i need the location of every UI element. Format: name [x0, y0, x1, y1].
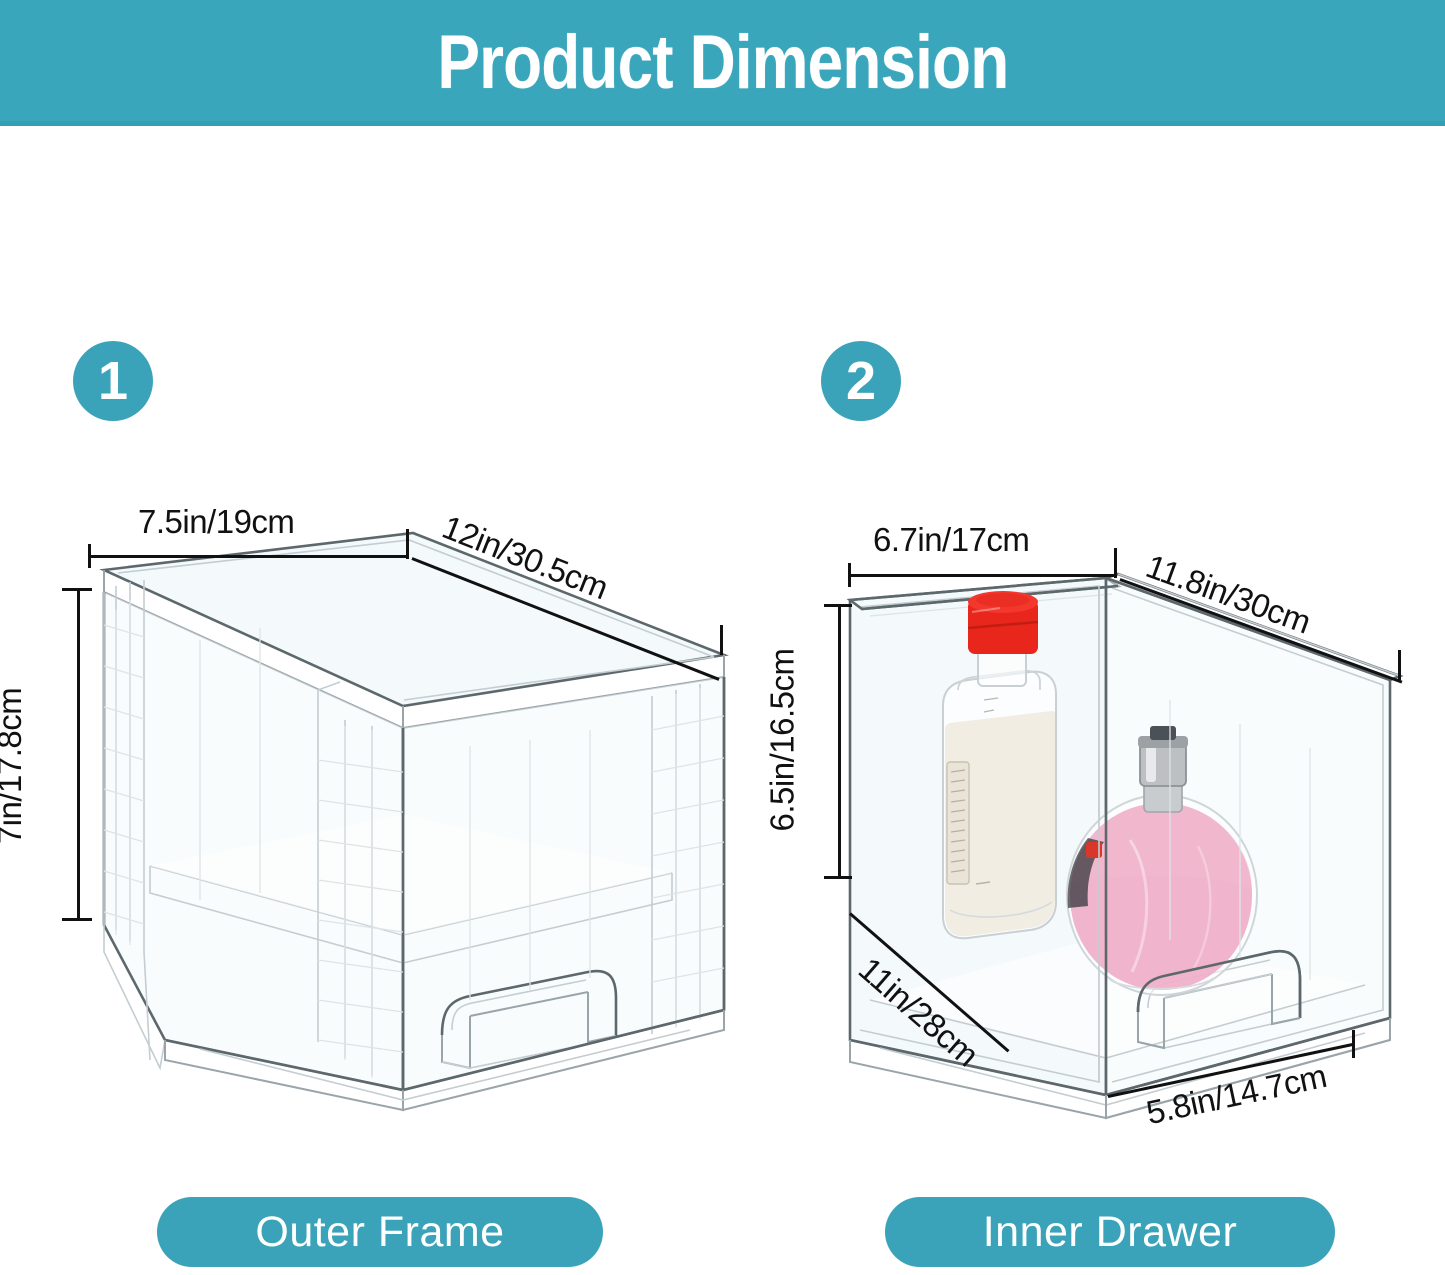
caption-inner-drawer-label: Inner Drawer [983, 1208, 1238, 1257]
dimtick-outer-height-top [62, 588, 92, 591]
dimension-inner-height: 6.5in/16.5cm [763, 649, 801, 832]
dimtick-inner-height-bottom [824, 876, 852, 879]
dimtick-outer-height-bottom [62, 918, 92, 921]
dimtick-inner-front-right [1352, 1030, 1355, 1058]
dimtick-inner-depth-far [1398, 650, 1401, 680]
product-dimension-infographic: Product Dimension 1 2 [0, 0, 1445, 1275]
dimline-inner-height [838, 604, 841, 876]
caption-outer-frame[interactable]: Outer Frame [157, 1197, 603, 1267]
caption-inner-drawer[interactable]: Inner Drawer [885, 1197, 1335, 1267]
dimtick-outer-width-right [406, 529, 409, 559]
dimline-outer-width [88, 555, 408, 558]
dimline-inner-width [848, 574, 1116, 577]
dimtick-inner-width-left [848, 563, 851, 587]
dimline-outer-height [77, 588, 80, 918]
dimtick-inner-width-right [1114, 548, 1117, 578]
dimtick-outer-width-left [88, 544, 91, 568]
inner-drawer-illustration [700, 0, 1445, 1160]
dimension-outer-height: 7in/17.8cm [0, 688, 29, 844]
dimtick-inner-height-top [824, 604, 852, 607]
dimension-outer-width: 7.5in/19cm [138, 503, 294, 541]
dimension-inner-width: 6.7in/17cm [873, 521, 1029, 559]
caption-outer-frame-label: Outer Frame [255, 1208, 504, 1257]
outer-frame-illustration [0, 0, 780, 1160]
